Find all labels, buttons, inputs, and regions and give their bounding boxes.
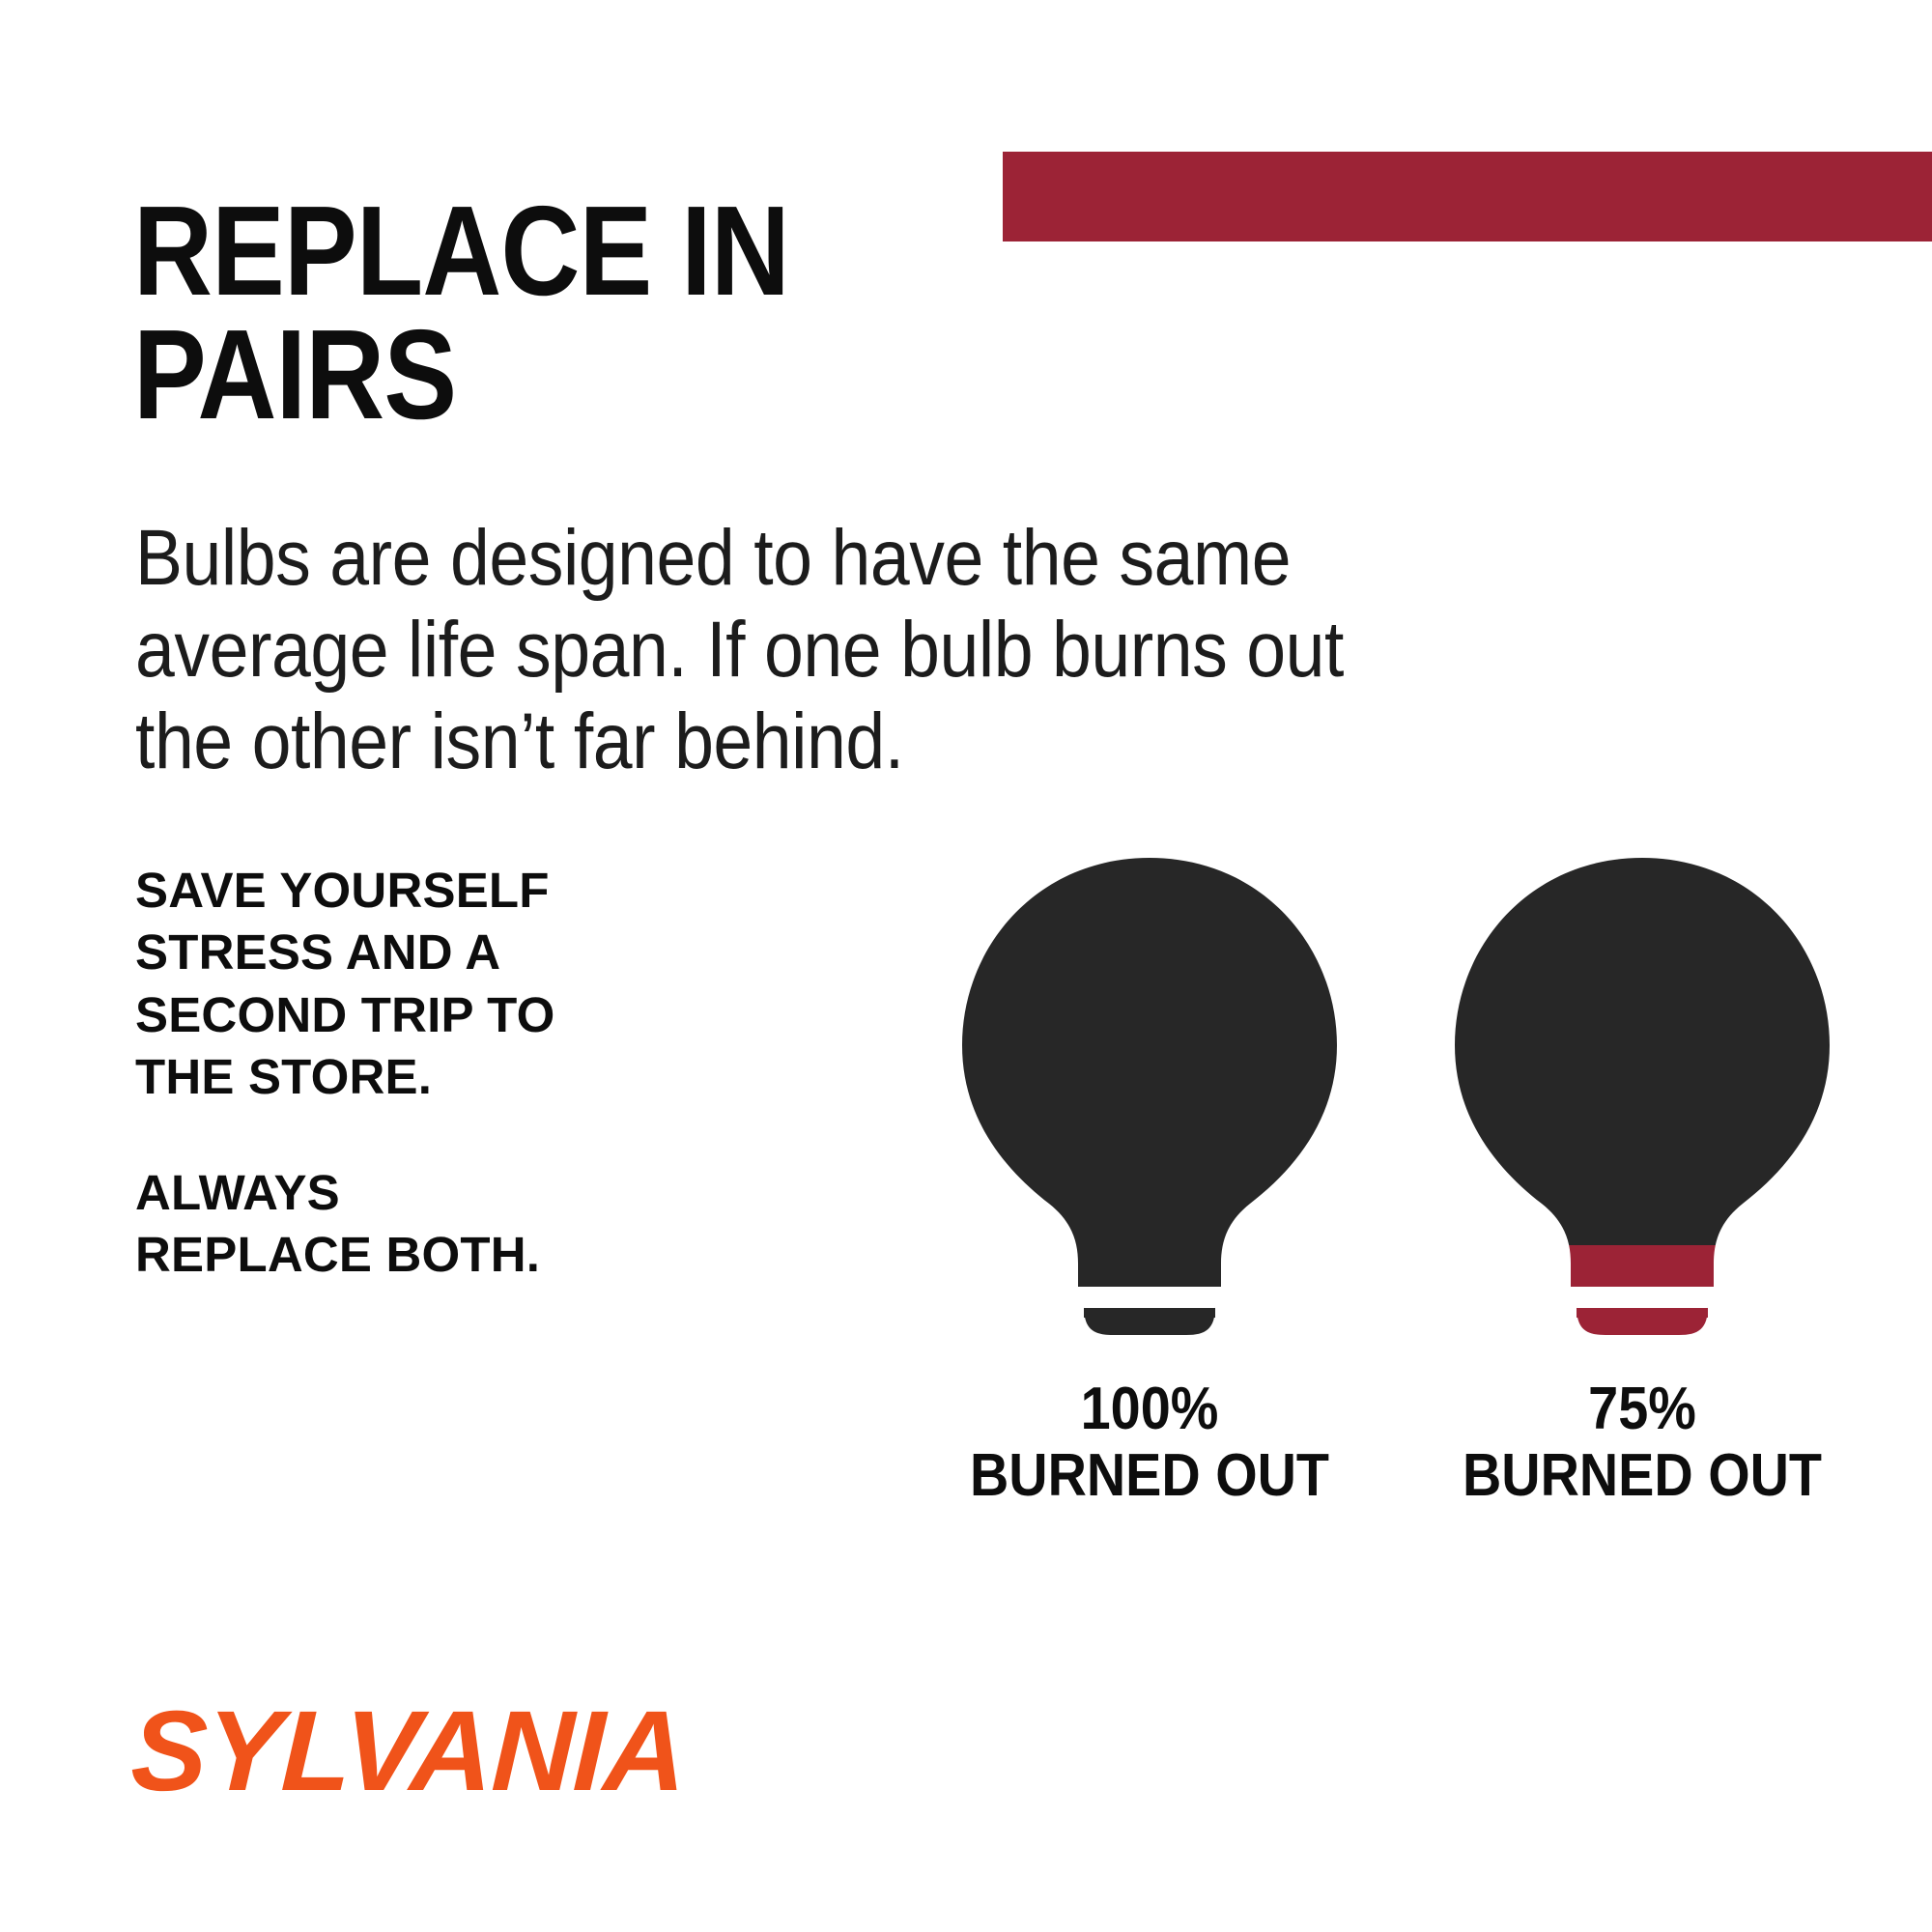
statement-always-replace-both: ALWAYS REPLACE BOTH. [135,1162,734,1287]
page-title: REPLACE IN PAIRS [133,189,881,437]
bulb-caption-75: 75% BURNED OUT [1442,1376,1842,1510]
bulb-caption-100: 100% BURNED OUT [950,1376,1350,1510]
bulb-globe-75 [1439,850,1845,1343]
infographic-canvas: REPLACE IN PAIRS Bulbs are designed to h… [0,0,1932,1932]
bulb-item-100: 100% BURNED OUT [927,850,1372,1510]
statements-block: SAVE YOURSELF STRESS AND A SECOND TRIP T… [135,860,734,1287]
bulb-item-75: 75% BURNED OUT [1420,850,1864,1510]
bulb-comparison-group: 100% BURNED OUT 75% BURNED OUT [908,850,1884,1256]
body-paragraph: Bulbs are designed to have the same aver… [135,512,1519,787]
accent-bar [1003,152,1932,241]
sylvania-logo: SYLVANIA [129,1694,687,1808]
statement-save-yourself: SAVE YOURSELF STRESS AND A SECOND TRIP T… [135,860,734,1108]
light-bulb-icon-100 [947,850,1352,1343]
light-bulb-icon-75 [1439,850,1845,1343]
